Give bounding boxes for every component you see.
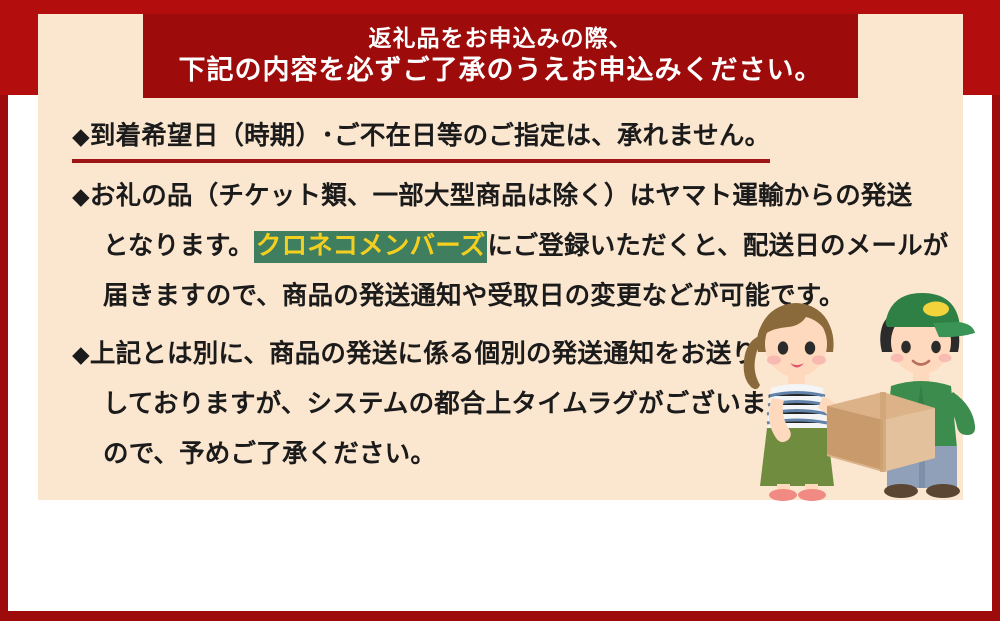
content-panel: 返礼品をお申込みの際、 下記の内容を必ずご了承のうえお申込みください。 ◆到着希…	[38, 14, 963, 500]
bullet-2-line-2: となります。クロネコメンバーズにご登録いただくと、配送日のメールが	[72, 221, 932, 271]
bullet-1-text: 到着希望日（時期）･ご不在日等のご指定は、承れません。	[90, 122, 770, 150]
bullet-2-text-1: お礼の品（チケット類、一部大型商品は除く）はヤマト運輸からの発送	[90, 182, 912, 210]
bullet-3-text-3: ので、予めご了承ください。	[103, 440, 436, 468]
diamond-marker: ◆	[72, 183, 90, 209]
notice-line-1: 返礼品をお申込みの際、	[369, 25, 633, 52]
bullet-3-text-2: しておりますが、システムの都合上タイムラグがございます	[103, 390, 792, 418]
bullet-3-line-1: ◆上記とは別に、商品の発送に係る個別の発送通知をお送り	[72, 329, 932, 379]
bullet-2-line-1: ◆お礼の品（チケット類、一部大型商品は除く）はヤマト運輸からの発送	[72, 171, 932, 221]
diamond-marker: ◆	[72, 123, 90, 149]
notice-box: 返礼品をお申込みの際、 下記の内容を必ずご了承のうえお申込みください。	[143, 14, 858, 98]
notice-line-2: 下記の内容を必ずご了承のうえお申込みください。	[179, 55, 823, 87]
bullet-item-2: ◆お礼の品（チケット類、一部大型商品は除く）はヤマト運輸からの発送 となります。…	[72, 171, 932, 321]
bullet-2-line-3: 届きますので、商品の発送通知や受取日の変更などが可能です。	[72, 271, 932, 321]
bullet-3-text-1: 上記とは別に、商品の発送に係る個別の発送通知をお送り	[90, 340, 757, 368]
bullet-2-text-3: 届きますので、商品の発送通知や受取日の変更などが可能です。	[103, 282, 845, 310]
bullet-1-line-1: ◆到着希望日（時期）･ご不在日等のご指定は、承れません。	[72, 114, 770, 163]
bullet-3-line-3: ので、予めご了承ください。	[72, 429, 932, 479]
bullet-item-1: ◆到着希望日（時期）･ご不在日等のご指定は、承れません。	[72, 114, 932, 163]
diamond-marker: ◆	[72, 341, 90, 367]
bullet-2-text-2a: となります。	[103, 232, 254, 260]
page-frame: 必ずご確認ください 返礼品をお申込みの際、 下記の内容を必ずご了承のうえお申込み…	[0, 0, 1000, 621]
bullet-2-text-2b: にご登録いただくと、配送日のメールが	[487, 232, 948, 260]
bullet-3-line-2: しておりますが、システムの都合上タイムラグがございます	[72, 379, 932, 429]
kuroneko-members-highlight[interactable]: クロネコメンバーズ	[254, 231, 488, 263]
bullet-item-3: ◆上記とは別に、商品の発送に係る個別の発送通知をお送り しておりますが、システム…	[72, 329, 932, 479]
bullet-list: ◆到着希望日（時期）･ご不在日等のご指定は、承れません。 ◆お礼の品（チケット類…	[72, 114, 932, 487]
